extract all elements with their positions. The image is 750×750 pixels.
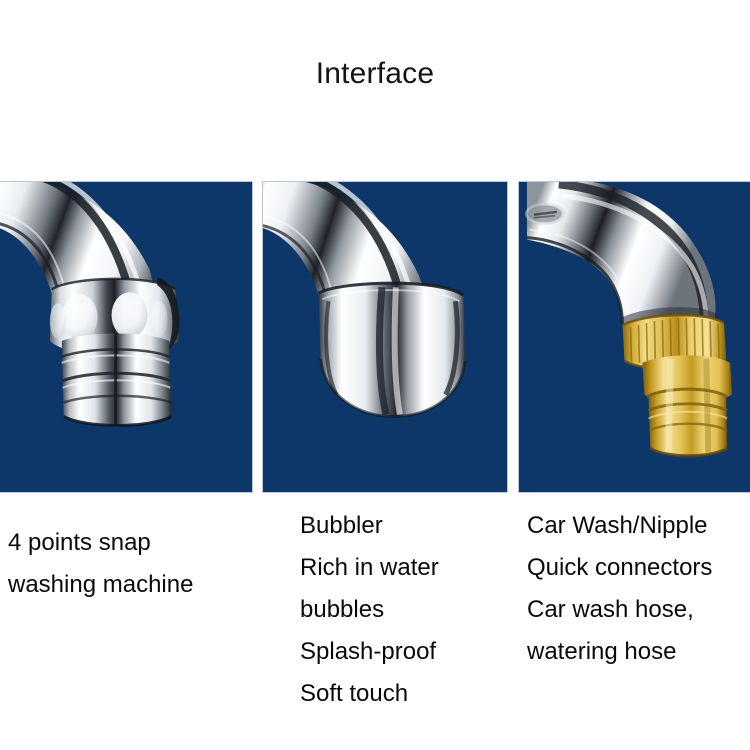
faucet-with-4-point-snap-connector-image — [0, 182, 252, 492]
faucet-with-bubbler-aerator-image — [263, 182, 507, 492]
caption-column-3: Car Wash/Nipple Quick connectors Car was… — [527, 493, 750, 673]
caption-line: Splash-proof — [300, 631, 515, 673]
caption-line: washing machine — [8, 564, 258, 606]
caption-line: Car Wash/Nipple — [527, 505, 750, 547]
caption-line: Car wash hose, — [527, 589, 750, 631]
caption-column-1: 4 points snap washing machine — [8, 493, 258, 606]
caption-line: Quick connectors — [527, 547, 750, 589]
product-image-panel-2[interactable] — [262, 181, 508, 493]
caption-line: Soft touch — [300, 673, 515, 715]
page-title: Interface — [0, 55, 750, 93]
caption-line: 4 points snap — [8, 522, 258, 564]
caption-line: watering hose — [527, 631, 750, 673]
product-image-panel-1[interactable] — [0, 181, 253, 493]
product-image-strip — [0, 181, 750, 493]
caption-line: Rich in water — [300, 547, 515, 589]
caption-line: bubbles — [300, 589, 515, 631]
faucet-with-brass-quick-connector-nipple-image — [519, 182, 750, 492]
caption-column-2: Bubbler Rich in water bubbles Splash-pro… — [300, 493, 515, 715]
caption-row: 4 points snap washing machine Bubbler Ri… — [0, 493, 750, 750]
product-image-panel-3[interactable] — [518, 181, 750, 493]
caption-line: Bubbler — [300, 505, 515, 547]
